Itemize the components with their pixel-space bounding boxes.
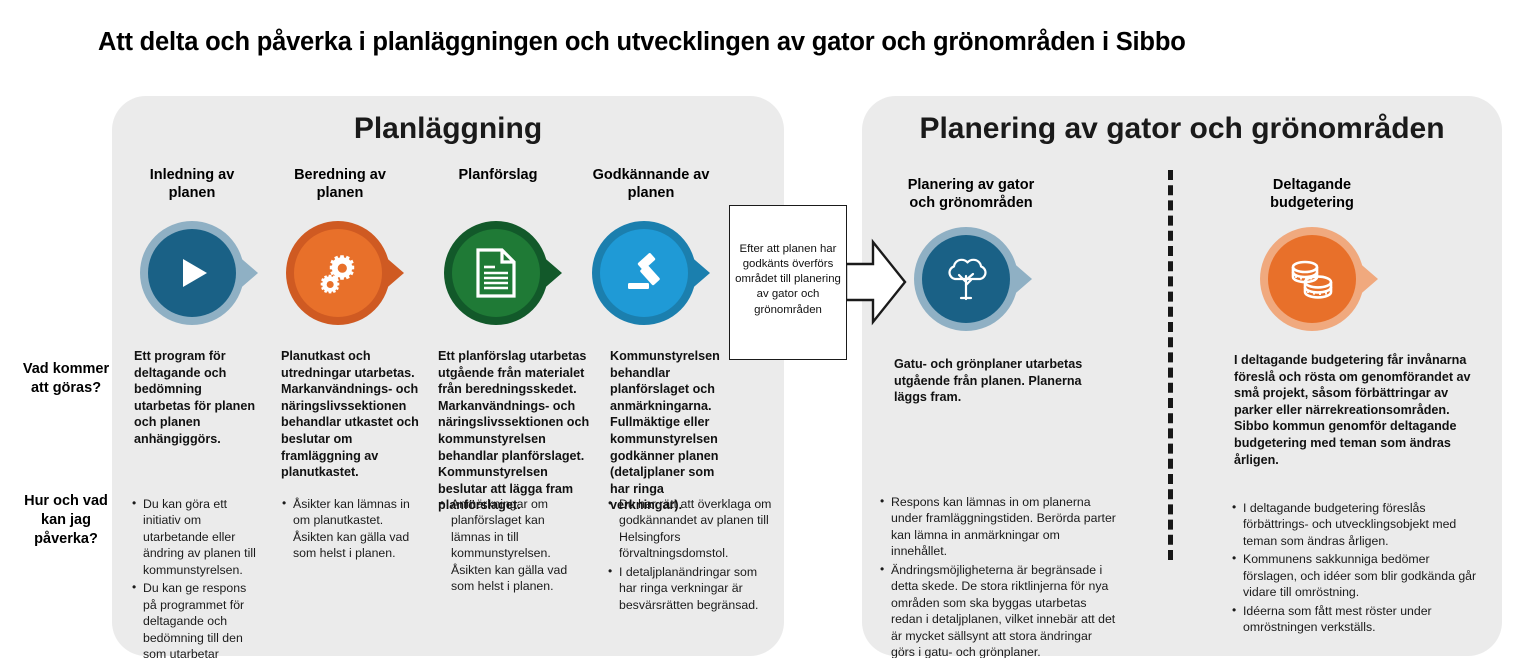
page-title: Att delta och påverka i planläggningen o…: [98, 28, 1298, 57]
what-text-beredning: Planutkast och utredningar utarbetas. Ma…: [281, 348, 423, 481]
transition-text: Efter att planen har godkänts överförs o…: [735, 242, 841, 318]
list-item: I deltagande budgetering föreslås förbät…: [1243, 500, 1480, 549]
list-item: Du kan göra ett initiativ om utarbetande…: [143, 496, 256, 578]
what-text-inledning: Ett program för deltagande och bedömning…: [134, 348, 262, 448]
badge-beredning: [278, 214, 410, 332]
bullets-godkannande: Du har rätt att överklaga om godkännande…: [608, 496, 776, 615]
badge-deltagande-budgetering: [1252, 220, 1384, 338]
bullets-planering-gator: Respons kan lämnas in om planerna under …: [880, 494, 1118, 658]
gears-icon: [294, 229, 382, 317]
bullets-planforslag: Anmärkningar om planförslaget kan lämnas…: [440, 496, 582, 597]
list-item: Idéerna som fått mest röster under omrös…: [1243, 603, 1480, 636]
section-divider: [1168, 170, 1173, 560]
bullets-inledning: Du kan göra ett initiativ om utarbetande…: [132, 496, 256, 658]
what-text-godkannande: Kommunstyrelsen behandlar planförslaget …: [610, 348, 730, 514]
badge-planering-gator: [906, 220, 1038, 338]
gavel-icon: [600, 229, 688, 317]
list-item: Anmärkningar om planförslaget kan lämnas…: [451, 496, 582, 595]
badge-godkannande: [584, 214, 716, 332]
row-label-what: Vad kommer att göras?: [6, 360, 126, 398]
badge-planforslag: [436, 214, 568, 332]
row-label-how: Hur och vad kan jag påverka?: [6, 492, 126, 549]
step-heading-beredning: Beredning av planen: [274, 166, 406, 202]
list-item: Du har rätt att överklaga om godkännande…: [619, 496, 776, 562]
infographic-root: Att delta och påverka i planläggningen o…: [0, 0, 1536, 658]
step-heading-planforslag: Planförslag: [432, 166, 564, 184]
list-item: Du kan ge respons på programmet för delt…: [143, 580, 256, 658]
list-item: Åsikter kan lämnas in om planutkastet. Å…: [293, 496, 412, 562]
bullets-deltagande-budgetering: I deltagande budgetering föreslås förbät…: [1232, 500, 1480, 638]
tree-icon: [922, 235, 1010, 323]
what-text-deltagande-budgetering: I deltagande budgetering får invånarna f…: [1234, 352, 1474, 468]
step-heading-inledning: Inledning av planen: [128, 166, 256, 202]
transition-callout: Efter att planen har godkänts överförs o…: [729, 205, 847, 360]
list-item: Ändringsmöjligheterna är begränsade i de…: [891, 562, 1118, 658]
bullets-beredning: Åsikter kan lämnas in om planutkastet. Å…: [282, 496, 412, 564]
what-text-planering-gator: Gatu- och grönplaner utarbetas utgående …: [894, 356, 1094, 406]
document-icon: [452, 229, 540, 317]
step-heading-godkannande: Godkännande av planen: [578, 166, 724, 202]
play-icon: [148, 229, 236, 317]
what-text-planforslag: Ett planförslag utarbetas utgående från …: [438, 348, 598, 514]
list-item: Kommunens sakkunniga bedömer förslagen, …: [1243, 551, 1480, 600]
list-item: Respons kan lämnas in om planerna under …: [891, 494, 1118, 560]
right-arrow-icon: [845, 238, 907, 326]
coins-icon: [1268, 235, 1356, 323]
panel-planering-title: Planering av gator och grönområden: [862, 112, 1502, 146]
step-heading-deltagande-budgetering: Deltagande budgetering: [1232, 176, 1392, 212]
panel-planlaggning-title: Planläggning: [112, 112, 784, 146]
step-heading-planering-gator: Planering av gator och grönområden: [892, 176, 1050, 212]
badge-inledning: [132, 214, 264, 332]
list-item: I detaljplanändringar som har ringa verk…: [619, 564, 776, 613]
